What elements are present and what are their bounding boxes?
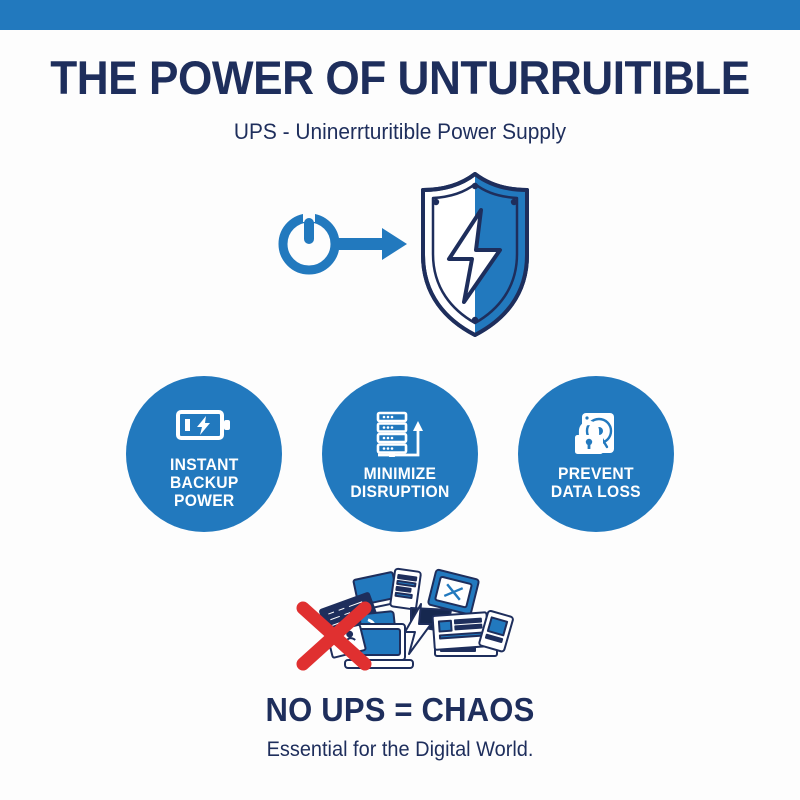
benefit-card-prevent-data-loss[interactable]: PREVENT DATA LOSS [518, 376, 674, 532]
footer-title: NO UPS = CHAOS [24, 692, 776, 728]
benefit-card-minimize-disruption[interactable]: MINIMIZE DISRUPTION [322, 376, 478, 532]
shield-rivet-left [433, 199, 439, 205]
hero-illustration [0, 160, 800, 350]
shield-rivet-top [472, 183, 478, 189]
hard-drive-lock-icon [570, 411, 622, 457]
chaos-illustration [0, 556, 800, 686]
shield-hero-svg [270, 160, 530, 350]
device-pile-icon [285, 556, 515, 686]
shield-rivet-bottom [472, 317, 478, 323]
benefit-label: MINIMIZE DISRUPTION [350, 465, 449, 501]
footer-subtitle: Essential for the Digital World. [20, 737, 780, 763]
infographic-poster: THE POWER OF UNTURRUITIBLE UPS - Uninerr… [0, 0, 800, 800]
server-rack-arrow-icon [374, 411, 426, 457]
page-subtitle: UPS - Uninerrturitible Power Supply [20, 118, 780, 146]
page-title: THE POWER OF UNTURRUITIBLE [24, 52, 776, 104]
benefit-card-instant-backup-power[interactable]: INSTANT BACKUP POWER [126, 376, 282, 532]
benefit-label: PREVENT DATA LOSS [551, 465, 641, 501]
shield-rivet-right [511, 199, 517, 205]
arrow-right-icon [339, 228, 407, 260]
benefits-row: INSTANT BACKUP POWER [0, 376, 800, 552]
footer-block: NO UPS = CHAOS Essential for the Digital… [0, 692, 800, 763]
power-button-icon [283, 208, 335, 270]
battery-bolt-icon [176, 402, 232, 448]
top-accent-band [0, 0, 800, 30]
benefit-label: INSTANT BACKUP POWER [170, 456, 239, 510]
heading-block: THE POWER OF UNTURRUITIBLE UPS - Uninerr… [0, 52, 800, 146]
